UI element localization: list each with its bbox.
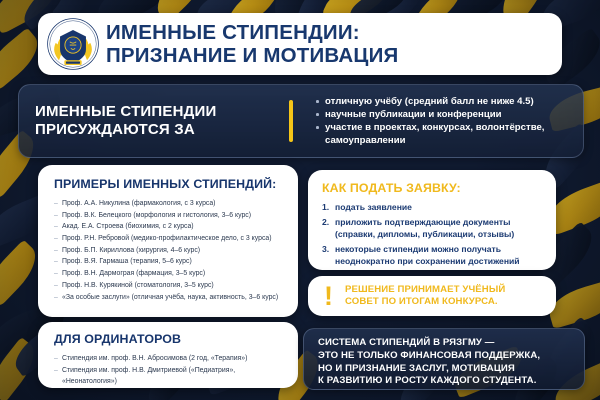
residents-list: Стипендия им. проф. В.Н. Абросимова (2 г…	[54, 353, 284, 387]
summary-banner: СИСТЕМА СТИПЕНДИЙ В РЯЗГМУ — ЭТО НЕ ТОЛЬ…	[303, 328, 585, 390]
list-item: Проф. Б.П. Кириллова (хирургия, 4–6 курс…	[54, 245, 284, 256]
list-item: научные публикации и конференции	[315, 108, 569, 121]
list-item: отличную учёбу (средний балл не ниже 4.5…	[315, 95, 569, 108]
residents-heading: ДЛЯ ОРДИНАТОРОВ	[54, 332, 284, 346]
page-title: ИМЕННЫЕ СТИПЕНДИИ: ПРИЗНАНИЕ И МОТИВАЦИЯ	[106, 21, 398, 67]
decision-note-card: ! РЕШЕНИЕ ПРИНИМАЕТ УЧЁНЫЙ СОВЕТ ПО ИТОГ…	[308, 276, 556, 316]
examples-list: Проф. А.А. Никулина (фармакология, с 3 к…	[54, 198, 284, 303]
list-item: Проф. Н.В. Курякиной (стоматология, 3–5 …	[54, 280, 284, 291]
summary-banner-text: СИСТЕМА СТИПЕНДИЙ В РЯЗГМУ — ЭТО НЕ ТОЛЬ…	[318, 337, 574, 388]
list-item: подать заявление	[322, 202, 544, 213]
residents-card: ДЛЯ ОРДИНАТОРОВ Стипендия им. проф. В.Н.…	[38, 322, 298, 388]
list-item: некоторые стипендии можно получать неодн…	[322, 244, 544, 267]
ryazgmu-crest-icon	[46, 17, 100, 71]
apply-heading: КАК ПОДАТЬ ЗАЯВКУ:	[322, 181, 544, 195]
apply-steps-list: подать заявление приложить подтверждающи…	[322, 202, 544, 267]
decision-note-text: РЕШЕНИЕ ПРИНИМАЕТ УЧЁНЫЙ СОВЕТ ПО ИТОГАМ…	[345, 284, 505, 308]
list-item: приложить подтверждающие документы (спра…	[322, 217, 544, 240]
list-item: Акад. Е.А. Строева (биохимия, с 2 курса)	[54, 221, 284, 232]
summary-line-3: НО И ПРИЗНАНИЕ ЗАСЛУГ, МОТИВАЦИЯ	[318, 363, 574, 376]
page-title-line-2: ПРИЗНАНИЕ И МОТИВАЦИЯ	[106, 44, 398, 67]
list-item: Проф. А.А. Никулина (фармакология, с 3 к…	[54, 198, 284, 209]
criteria-list-wrap: отличную учёбу (средний балл не ниже 4.5…	[315, 95, 583, 147]
list-item: «За особые заслуги» (отличная учёба, нау…	[54, 292, 284, 303]
examples-heading: ПРИМЕРЫ ИМЕННЫХ СТИПЕНДИЙ:	[54, 177, 284, 191]
list-item: Стипендия им. проф. Н.В. Дмитриевой («Пе…	[54, 365, 284, 387]
list-item: Проф. Р.Н. Ребровой (медико-профилактиче…	[54, 233, 284, 244]
stipend-infographic-poster: ИМЕННЫЕ СТИПЕНДИИ: ПРИЗНАНИЕ И МОТИВАЦИЯ…	[0, 0, 600, 400]
criteria-heading-line-1: ИМЕННЫЕ СТИПЕНДИИ	[35, 103, 283, 121]
decision-note-line-1: РЕШЕНИЕ ПРИНИМАЕТ УЧЁНЫЙ	[345, 284, 505, 296]
page-title-line-1: ИМЕННЫЕ СТИПЕНДИИ:	[106, 21, 398, 44]
list-item: Проф. В.Н. Дармограя (фармация, 3–5 курс…	[54, 268, 284, 279]
criteria-panel: ИМЕННЫЕ СТИПЕНДИИ ПРИСУЖДАЮТСЯ ЗА отличн…	[18, 84, 584, 158]
summary-line-1: СИСТЕМА СТИПЕНДИЙ В РЯЗГМУ —	[318, 337, 574, 350]
summary-line-2: ЭТО НЕ ТОЛЬКО ФИНАНСОВАЯ ПОДДЕРЖКА,	[318, 350, 574, 363]
criteria-heading: ИМЕННЫЕ СТИПЕНДИИ ПРИСУЖДАЮТСЯ ЗА	[19, 103, 283, 140]
criteria-list: отличную учёбу (средний балл не ниже 4.5…	[315, 95, 569, 147]
criteria-heading-line-2: ПРИСУЖДАЮТСЯ ЗА	[35, 121, 283, 139]
list-item: участие в проектах, конкурсах, волонтёрс…	[315, 121, 569, 147]
examples-card: ПРИМЕРЫ ИМЕННЫХ СТИПЕНДИЙ: Проф. А.А. Ни…	[38, 165, 298, 317]
list-item: Стипендия им. проф. В.Н. Абросимова (2 г…	[54, 353, 284, 364]
header-card: ИМЕННЫЕ СТИПЕНДИИ: ПРИЗНАНИЕ И МОТИВАЦИЯ	[38, 13, 562, 75]
apply-card: КАК ПОДАТЬ ЗАЯВКУ: подать заявление прил…	[308, 170, 556, 270]
decision-note-line-2: СОВЕТ ПО ИТОГАМ КОНКУРСА.	[345, 296, 505, 308]
list-item: Проф. В.К. Белецкого (морфология и гисто…	[54, 210, 284, 221]
vertical-divider	[289, 100, 293, 142]
exclamation-mark-icon: !	[324, 284, 333, 308]
summary-line-4: К РАЗВИТИЮ И РОСТУ КАЖДОГО СТУДЕНТА.	[318, 375, 574, 388]
list-item: Проф. В.Я. Гармаша (терапия, 5–6 курс)	[54, 256, 284, 267]
